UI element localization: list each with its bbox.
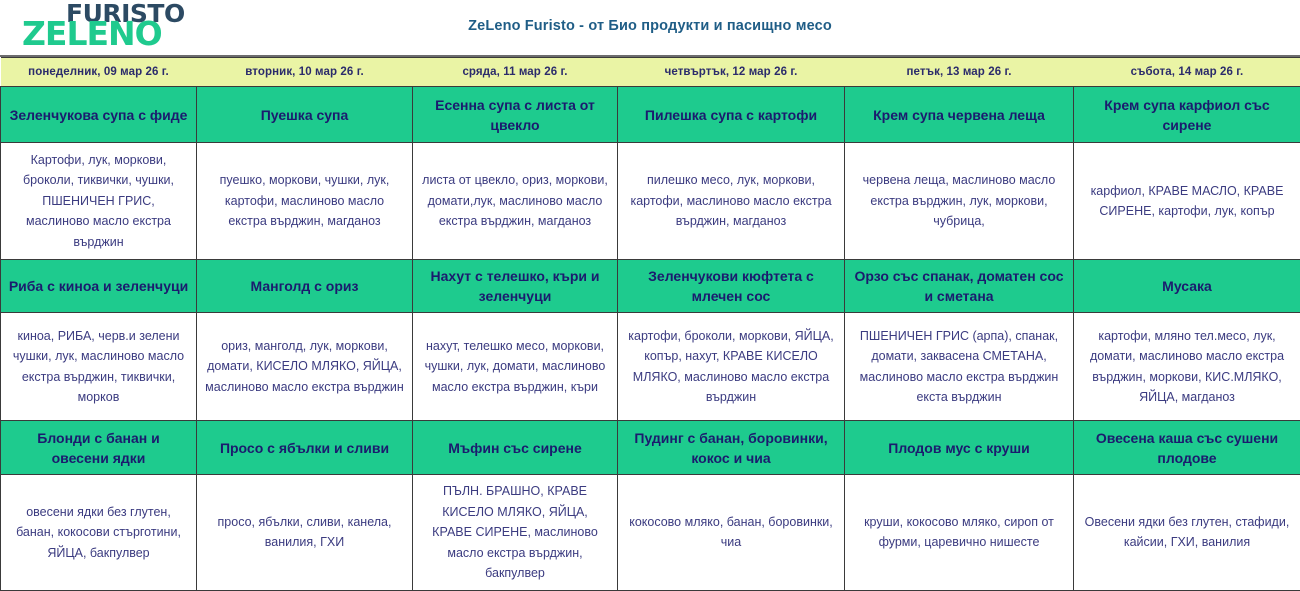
dish-name-soup-2: Есенна супа с листа от цвекло	[413, 87, 618, 143]
ingredients-main-4: ПШЕНИЧЕН ГРИС (арпа), спанак, домати, за…	[845, 313, 1074, 421]
ingredients-soup-4: червена леща, маслиново масло екстра вър…	[845, 143, 1074, 260]
ingredients-soup-3: пилешко месо, лук, моркови, картофи, мас…	[618, 143, 845, 260]
ingredients-dessert-0: овесени ядки без глутен, банан, кокосови…	[1, 475, 197, 591]
dish-name-main-2: Нахут с телешко, къри и зеленчуци	[413, 260, 618, 313]
date-header-cell-4: петък, 13 мар 26 г.	[845, 58, 1074, 87]
ingredients-dessert-1: просо, ябълки, сливи, канела, ванилия, Г…	[197, 475, 413, 591]
dish-name-soup-1: Пуешка супа	[197, 87, 413, 143]
ingredients-soup-0: Картофи, лук, моркови, броколи, тиквички…	[1, 143, 197, 260]
ingredients-dessert-2: ПЪЛН. БРАШНО, КРАВЕ КИСЕЛО МЛЯКО, ЯЙЦА, …	[413, 475, 618, 591]
dish-name-dessert-3: Пудинг с банан, боровинки, кокос и чиа	[618, 421, 845, 475]
dessert-dish-row: Блонди с банан и овесени ядки Просо с яб…	[1, 421, 1300, 475]
date-header-cell-3: четвъртък, 12 мар 26 г.	[618, 58, 845, 87]
weekly-menu-table: понеделник, 09 мар 26 г. вторник, 10 мар…	[0, 57, 1300, 591]
date-header-row: понеделник, 09 мар 26 г. вторник, 10 мар…	[1, 58, 1300, 87]
date-header-cell-2: сряда, 11 мар 26 г.	[413, 58, 618, 87]
dish-name-dessert-5: Овесена каша със сушени плодове	[1074, 421, 1300, 475]
ingredients-main-0: киноа, РИБА, черв.и зелени чушки, лук, м…	[1, 313, 197, 421]
ingredients-soup-5: карфиол, КРАВЕ МАСЛО, КРАВЕ СИРЕНЕ, карт…	[1074, 143, 1300, 260]
page-title: ZeLeno Furisto - от Био продукти и пасищ…	[0, 18, 1300, 34]
ingredients-main-2: нахут, телешко месо, моркови, чушки, лук…	[413, 313, 618, 421]
date-header-cell-1: вторник, 10 мар 26 г.	[197, 58, 413, 87]
dish-name-soup-4: Крем супа червена леща	[845, 87, 1074, 143]
page-header: FURISTO ZELENO ZeLeno Furisto - от Био п…	[0, 0, 1300, 57]
dish-name-main-3: Зеленчукови кюфтета с млечен сос	[618, 260, 845, 313]
dish-name-soup-3: Пилешка супа с картофи	[618, 87, 845, 143]
dish-name-dessert-1: Просо с ябълки и сливи	[197, 421, 413, 475]
main-dish-row: Риба с киноа и зеленчуци Манголд с ориз …	[1, 260, 1300, 313]
soup-ingredients-row: Картофи, лук, моркови, броколи, тиквички…	[1, 143, 1300, 260]
dish-name-soup-5: Крем супа карфиол със сирене	[1074, 87, 1300, 143]
ingredients-dessert-5: Овесени ядки без глутен, стафиди, кайсии…	[1074, 475, 1300, 591]
ingredients-main-5: картофи, мляно тел.месо, лук, домати, ма…	[1074, 313, 1300, 421]
dish-name-main-4: Орзо със спанак, доматен сос и сметана	[845, 260, 1074, 313]
ingredients-soup-2: листа от цвекло, ориз, моркови, домати,л…	[413, 143, 618, 260]
dessert-ingredients-row: овесени ядки без глутен, банан, кокосови…	[1, 475, 1300, 591]
dish-name-main-1: Манголд с ориз	[197, 260, 413, 313]
ingredients-main-1: ориз, манголд, лук, моркови, домати, КИС…	[197, 313, 413, 421]
dish-name-soup-0: Зеленчукова супа с фиде	[1, 87, 197, 143]
ingredients-dessert-4: круши, кокосово мляко, сироп от фурми, ц…	[845, 475, 1074, 591]
ingredients-dessert-3: кокосово мляко, банан, боровинки, чиа	[618, 475, 845, 591]
dish-name-dessert-4: Плодов мус с круши	[845, 421, 1074, 475]
main-ingredients-row: киноа, РИБА, черв.и зелени чушки, лук, м…	[1, 313, 1300, 421]
dish-name-main-0: Риба с киноа и зеленчуци	[1, 260, 197, 313]
ingredients-soup-1: пуешко, моркови, чушки, лук, картофи, ма…	[197, 143, 413, 260]
dish-name-dessert-0: Блонди с банан и овесени ядки	[1, 421, 197, 475]
dish-name-main-5: Мусака	[1074, 260, 1300, 313]
dish-name-dessert-2: Мъфин със сирене	[413, 421, 618, 475]
date-header-cell-0: понеделник, 09 мар 26 г.	[1, 58, 197, 87]
ingredients-main-3: картофи, броколи, моркови, ЯЙЦА, копър, …	[618, 313, 845, 421]
date-header-cell-5: събота, 14 мар 26 г.	[1074, 58, 1300, 87]
soup-dish-row: Зеленчукова супа с фиде Пуешка супа Есен…	[1, 87, 1300, 143]
